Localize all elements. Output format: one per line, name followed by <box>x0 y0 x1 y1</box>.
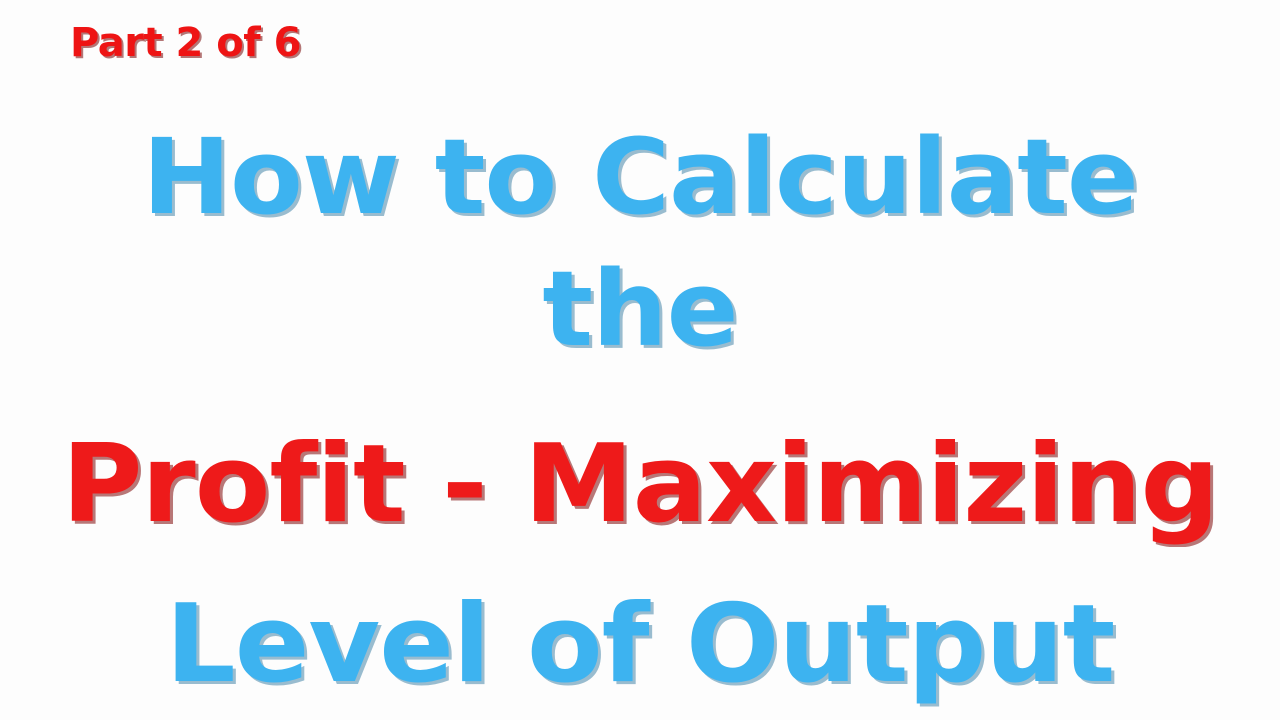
title-line-4: Level of Output <box>0 586 1280 704</box>
title-line-2: the <box>0 250 1280 368</box>
title-line-3: Profit - Maximizing <box>0 426 1280 544</box>
title-line-1: How to Calculate <box>0 118 1280 236</box>
title-block: How to Calculate the Profit - Maximizing… <box>0 118 1280 704</box>
part-number-label: Part 2 of 6 <box>70 22 301 64</box>
title-slide: Part 2 of 6 How to Calculate the Profit … <box>0 0 1280 720</box>
